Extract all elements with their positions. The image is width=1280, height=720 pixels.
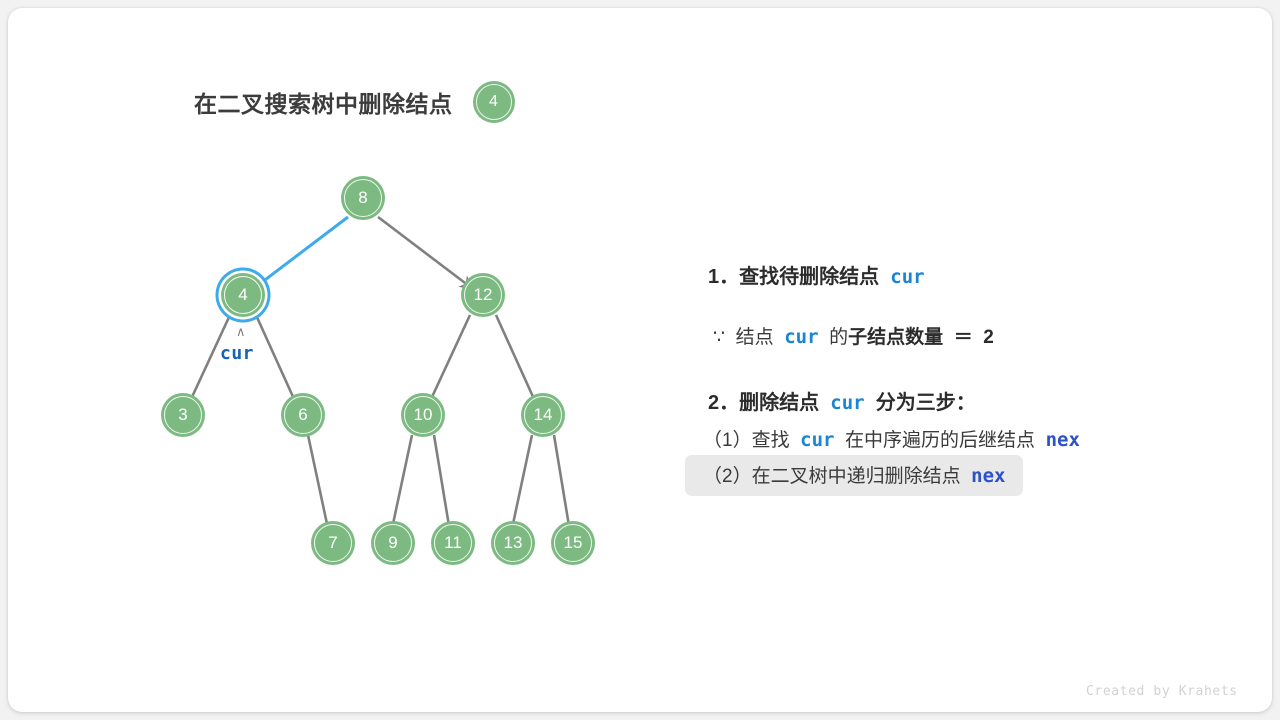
tree-node-15[interactable]: 15 (551, 521, 595, 565)
tree-node-14[interactable]: 14 (521, 393, 565, 437)
tree-node-10[interactable]: 10 (401, 393, 445, 437)
step-badge-label: 4 (489, 93, 498, 111)
tree-node-label: 12 (474, 285, 493, 305)
reason-value: 2 (983, 327, 994, 348)
step-2-line: 2．删除结点 cur 分为三步： (708, 386, 976, 415)
tree-node-label: 14 (534, 405, 553, 425)
tree-node-3[interactable]: 3 (161, 393, 205, 437)
credit-footer: Created by Krahets (1086, 684, 1238, 699)
tree-node-label: 8 (358, 188, 367, 208)
tree-node-12[interactable]: 12 (461, 273, 505, 317)
reason-text-b: 的 (829, 327, 848, 348)
tree-node-label: 10 (414, 405, 433, 425)
cur-pointer-caret-icon: ∧ (236, 326, 246, 339)
step-2-var-cur: cur (830, 392, 864, 414)
reason-text-bold: 子结点数量 (848, 327, 943, 348)
step-1-line: 1．查找待删除结点 cur (708, 260, 925, 289)
substep-2-highlight[interactable]: （2）在二叉树中递归删除结点 nex (685, 455, 1023, 496)
reason-text-a: 结点 (736, 327, 774, 348)
tree-node-6[interactable]: 6 (281, 393, 325, 437)
tree-node-7[interactable]: 7 (311, 521, 355, 565)
tree-node-label: 3 (178, 405, 187, 425)
tree-node-label: 7 (328, 533, 337, 553)
binary-search-tree-diagram: 8 4 12 3 6 10 14 7 9 11 13 15 ∧ cur (8, 8, 668, 628)
step-2-text: 2．删除结点 (708, 392, 819, 414)
substep-1-line: （1）查找 cur 在中序遍历的后继结点 nex (703, 425, 1080, 452)
substep-1-var-nex: nex (1046, 429, 1080, 451)
reason-var-cur: cur (784, 326, 818, 348)
because-symbol-icon: ∵ (713, 327, 725, 348)
tree-node-9[interactable]: 9 (371, 521, 415, 565)
tree-node-label: 6 (298, 405, 307, 425)
substep-1-prefix: （1）查找 (703, 430, 790, 451)
edge-8-12 (378, 217, 473, 289)
tree-node-13[interactable]: 13 (491, 521, 535, 565)
substep-1-mid: 在中序遍历的后继结点 (845, 430, 1035, 451)
step-1-text: 1．查找待删除结点 (708, 266, 879, 288)
tree-node-label: 15 (564, 533, 583, 553)
edge-8-4 (253, 217, 348, 289)
substep-2-prefix: （2）在二叉树中递归删除结点 (703, 466, 961, 487)
tree-node-label: 4 (238, 285, 247, 305)
cur-pointer-label: cur (220, 343, 254, 364)
tree-node-8[interactable]: 8 (341, 176, 385, 220)
tree-node-label: 13 (504, 533, 523, 553)
substep-1-var-cur: cur (800, 429, 834, 451)
screenshot-root: 在二叉搜索树中删除结点 4 (0, 0, 1280, 720)
tree-node-11[interactable]: 11 (431, 521, 475, 565)
tree-node-4[interactable]: 4 (221, 273, 265, 317)
reason-line: ∵ 结点 cur 的子结点数量 ＝ 2 (713, 322, 994, 349)
step-2-suffix: 分为三步： (876, 392, 976, 414)
substep-2-var-nex: nex (971, 465, 1005, 487)
tree-node-label: 9 (388, 533, 397, 553)
tree-node-label: 11 (444, 533, 462, 553)
content-card: 在二叉搜索树中删除结点 4 (8, 8, 1272, 712)
reason-equals: ＝ (954, 327, 973, 348)
substep-2-line: （2）在二叉树中递归删除结点 nex (703, 461, 1005, 488)
step-1-var-cur: cur (890, 266, 924, 288)
